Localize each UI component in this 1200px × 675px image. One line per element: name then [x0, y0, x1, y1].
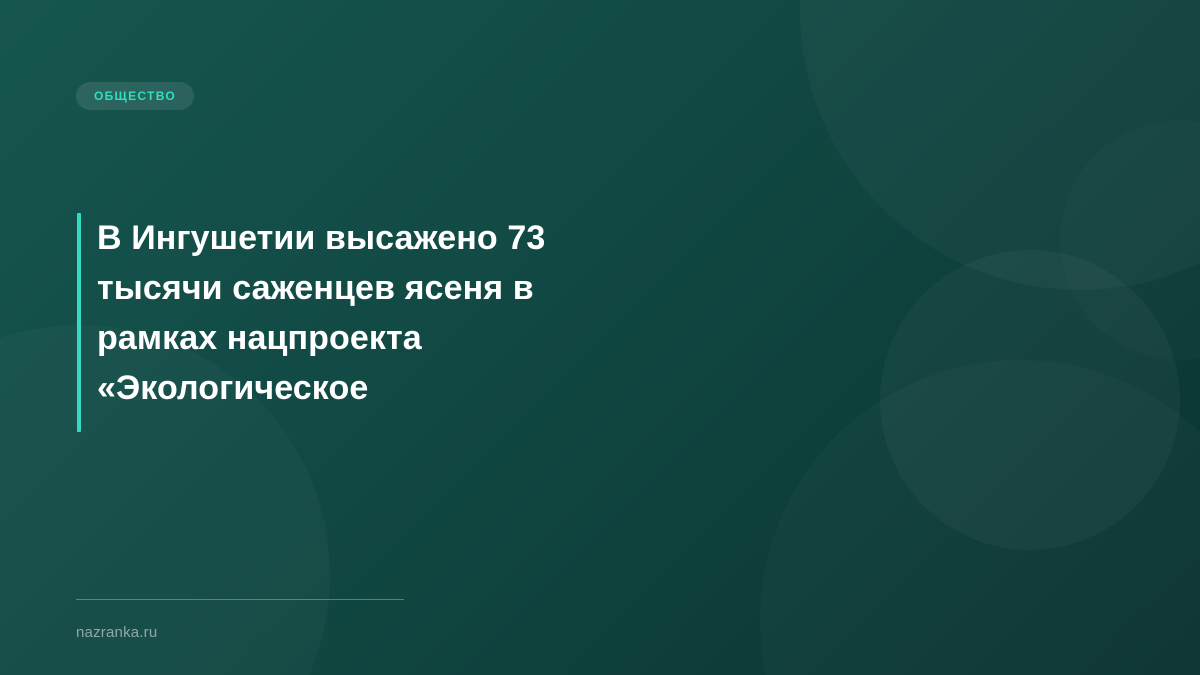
site-name: nazranka.ru [76, 624, 157, 641]
decorative-circle-far-right [1060, 120, 1200, 360]
accent-bar [77, 213, 81, 432]
news-social-card: ОБЩЕСТВО В Ингушетии высажено 73 тысячи … [0, 0, 1200, 675]
decorative-circle-right-middle [880, 250, 1180, 550]
page-title: В Ингушетии высажено 73 тысячи саженцев … [97, 213, 657, 413]
decorative-circle-bottom-right [760, 360, 1200, 675]
footer-divider [76, 599, 404, 600]
category-badge[interactable]: ОБЩЕСТВО [76, 82, 194, 110]
category-badge-label: ОБЩЕСТВО [94, 89, 176, 103]
headline-block: В Ингушетии высажено 73 тысячи саженцев … [77, 213, 657, 413]
decorative-circle-top-right [800, 0, 1200, 290]
